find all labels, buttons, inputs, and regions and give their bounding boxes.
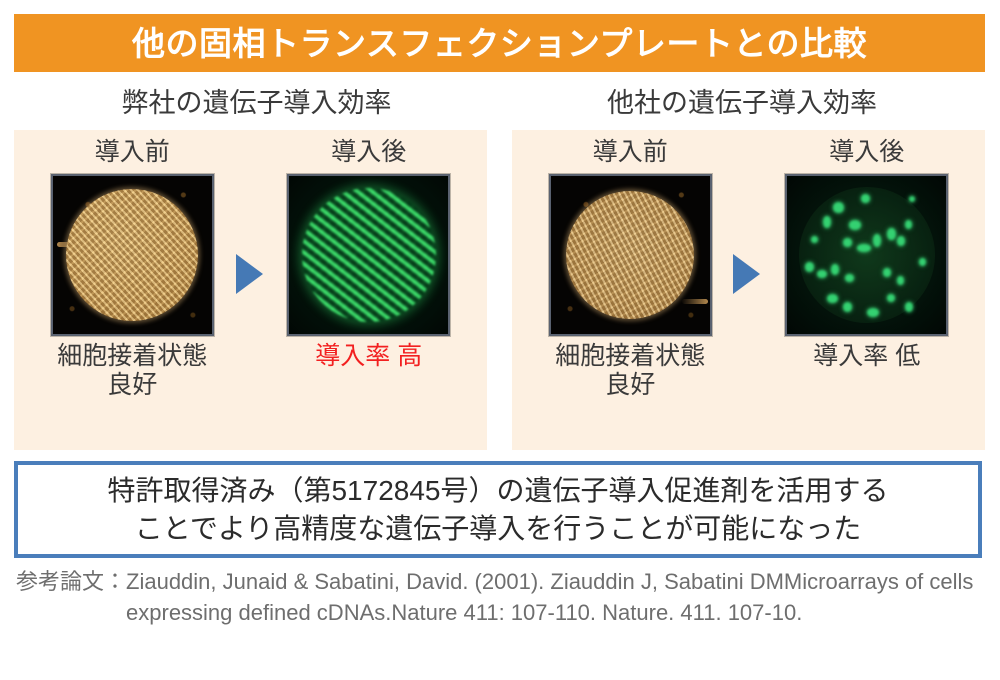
caption-ours-after-top: 導入後 (331, 138, 406, 167)
header-banner: 他の固相トランスフェクションプレートとの比較 (14, 14, 985, 72)
column-heading-ours: 弊社の遺伝子導入効率 (14, 78, 499, 122)
transfection-arrow-icon (236, 254, 263, 294)
column-headings: 弊社の遺伝子導入効率 他社の遺伝子導入効率 (14, 78, 985, 122)
brightfield-cell-colony-image (549, 174, 712, 336)
transfection-arrow-icon (733, 254, 760, 294)
caption-ours-before-bottom: 細胞接着状態 良好 (57, 342, 207, 401)
page-title: 他の固相トランスフェクションプレートとの比較 (132, 27, 867, 60)
cell-block-theirs-before: 導入前 細胞接着状態 良好 (512, 130, 749, 450)
panel-theirs: 導入前 細胞接着状態 良好 導入後 (512, 130, 985, 450)
reference-text: Ziauddin, Junaid & Sabatini, David. (200… (126, 566, 984, 628)
comparison-panels: 導入前 細胞接着状態 良好 導入後 (14, 130, 985, 450)
gfp-fluorescence-low-image (785, 174, 948, 336)
caption-ours-before-top: 導入前 (95, 138, 170, 167)
column-heading-ours-label: 弊社の遺伝子導入効率 (122, 81, 392, 120)
brightfield-cell-colony-image (51, 174, 214, 336)
cell-block-ours-before: 導入前 細胞接着状態 良好 (14, 130, 251, 450)
column-heading-theirs-label: 他社の遺伝子導入効率 (607, 81, 877, 120)
caption-theirs-before-top: 導入前 (593, 138, 668, 167)
panel-ours: 導入前 細胞接着状態 良好 導入後 (14, 130, 487, 450)
patent-line-1: 特許取得済み（第5172845号）の遺伝子導入促進剤を活用する (107, 472, 888, 510)
patent-line-2: ことでより高精度な遺伝子導入を行うことが可能になった (135, 510, 862, 548)
reference-label: 参考論文： (16, 566, 126, 597)
caption-ours-after-bottom: 導入率 高 (315, 342, 422, 372)
reference-citation: 参考論文： Ziauddin, Junaid & Sabatini, David… (16, 566, 984, 628)
caption-theirs-before-bottom: 細胞接着状態 良好 (555, 342, 705, 401)
caption-theirs-after-bottom: 導入率 低 (813, 342, 920, 372)
cell-block-theirs-after: 導入後 (749, 130, 986, 450)
column-heading-theirs: 他社の遺伝子導入効率 (499, 78, 985, 122)
caption-theirs-after-top: 導入後 (829, 138, 904, 167)
patent-callout-box: 特許取得済み（第5172845号）の遺伝子導入促進剤を活用する ことでより高精度… (14, 461, 982, 558)
gfp-fluorescence-high-image (287, 174, 450, 336)
cell-block-ours-after: 導入後 導入率 高 (251, 130, 488, 450)
